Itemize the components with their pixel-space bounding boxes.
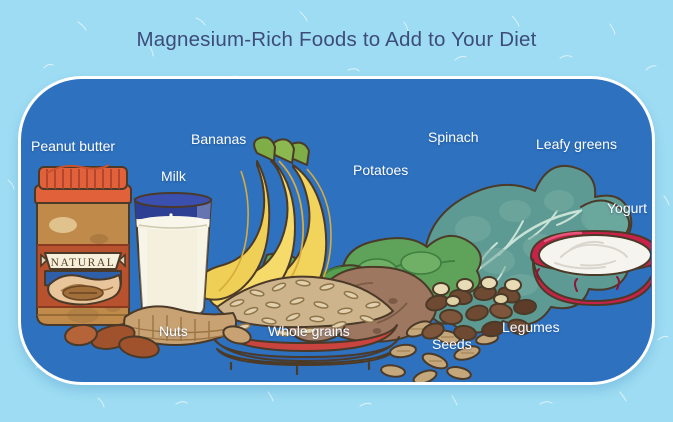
label-seeds: Seeds [432,336,472,352]
label-spinach: Spinach [428,129,479,145]
label-peanut-butter: Peanut butter [31,138,115,154]
yogurt-bowl-art [531,231,651,305]
label-nuts: Nuts [159,323,188,339]
label-potatoes: Potatoes [353,162,408,178]
label-leafy-greens: Leafy greens [536,136,617,152]
peanut-butter-jar-art: NATURAL [35,165,131,325]
label-whole-grains: Whole grains [268,323,350,339]
milk-glass-art [131,193,217,319]
food-illustration-panel: NATURAL [18,76,655,385]
label-yogurt: Yogurt [607,200,647,216]
label-bananas: Bananas [191,131,246,147]
label-milk: Milk [161,168,186,184]
page-title: Magnesium-Rich Foods to Add to Your Diet [0,28,673,52]
jar-banner-text: NATURAL [51,257,116,269]
label-legumes: Legumes [502,319,560,335]
